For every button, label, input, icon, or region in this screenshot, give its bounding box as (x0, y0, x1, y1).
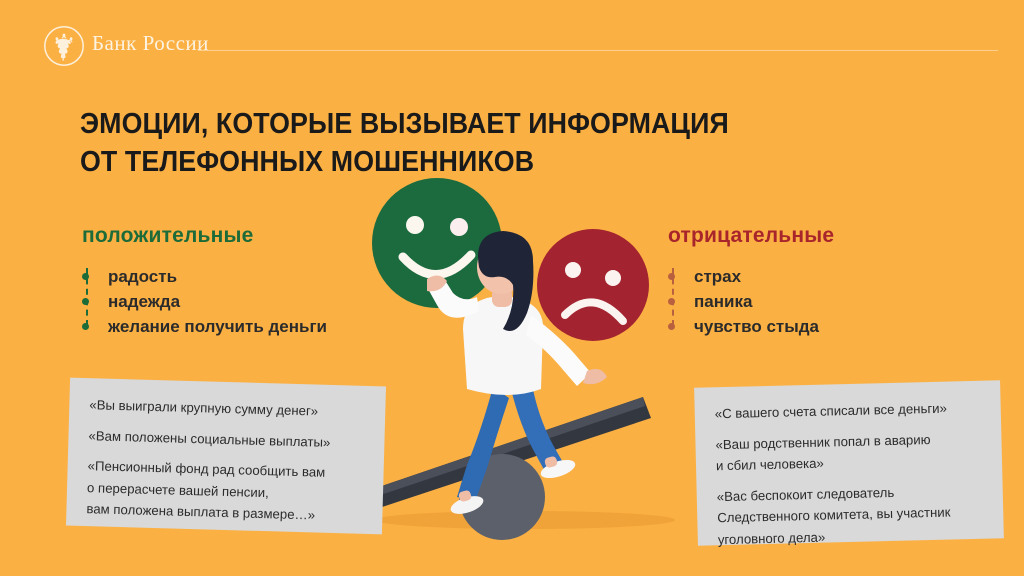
negative-emotions-column: отрицательные страх паника чувство стыда (668, 224, 998, 339)
quote: «Пенсионный фонд рад сообщить вам о пере… (86, 455, 366, 527)
list-item: страх (694, 264, 998, 289)
quote: «Ваш родственник попал в аварию и сбил ч… (715, 427, 984, 477)
page-title: ЭМОЦИИ, КОТОРЫЕ ВЫЗЫВАЕТ ИНФОРМАЦИЯ ОТ Т… (80, 105, 851, 181)
list-item: чувство стыда (694, 314, 998, 339)
page-title-line-1: ЭМОЦИИ, КОТОРЫЕ ВЫЗЫВАЕТ ИНФОРМАЦИЯ (80, 108, 729, 140)
quote-line: «Вам положены социальные выплаты» (88, 425, 366, 454)
negative-scam-phrases-card: «С вашего счета списали все деньги» «Ваш… (694, 380, 1004, 545)
list-item-label: паника (694, 292, 752, 311)
negative-emotions-heading: отрицательные (668, 224, 998, 248)
negative-emotions-list: страх паника чувство стыда (668, 264, 998, 339)
list-item-label: чувство стыда (694, 317, 819, 336)
list-item-label: надежда (108, 292, 180, 311)
list-item: паника (694, 289, 998, 314)
bullet-dot-icon (82, 298, 89, 305)
quote: «Вам положены социальные выплаты» (88, 425, 366, 454)
quote: «Вас беспокоит следователь Следственного… (717, 479, 986, 550)
quote: «Вы выиграли крупную сумму денег» (89, 394, 367, 423)
bank-of-russia-logo-icon (44, 26, 84, 66)
bullet-dot-icon (82, 273, 89, 280)
header-divider (198, 50, 998, 51)
positive-scam-phrases-card: «Вы выиграли крупную сумму денег» «Вам п… (66, 378, 386, 535)
list-item-label: страх (694, 267, 741, 286)
list-item-label: желание получить деньги (108, 317, 327, 336)
brand-name: Банк России (92, 31, 209, 56)
quote: «С вашего счета списали все деньги» (715, 397, 983, 425)
quote-line: «С вашего счета списали все деньги» (715, 397, 983, 425)
bullet-dot-icon (82, 323, 89, 330)
frowning-face-red-icon (537, 229, 649, 341)
quote-line: «Вы выиграли крупную сумму денег» (89, 394, 367, 423)
list-item-label: радость (108, 267, 177, 286)
header: Банк России (0, 0, 1024, 80)
infographic-poster: Банк России ЭМОЦИИ, КОТОРЫЕ ВЫЗЫВАЕТ ИНФ… (0, 0, 1024, 576)
balancing-woman-illustration (355, 175, 675, 576)
